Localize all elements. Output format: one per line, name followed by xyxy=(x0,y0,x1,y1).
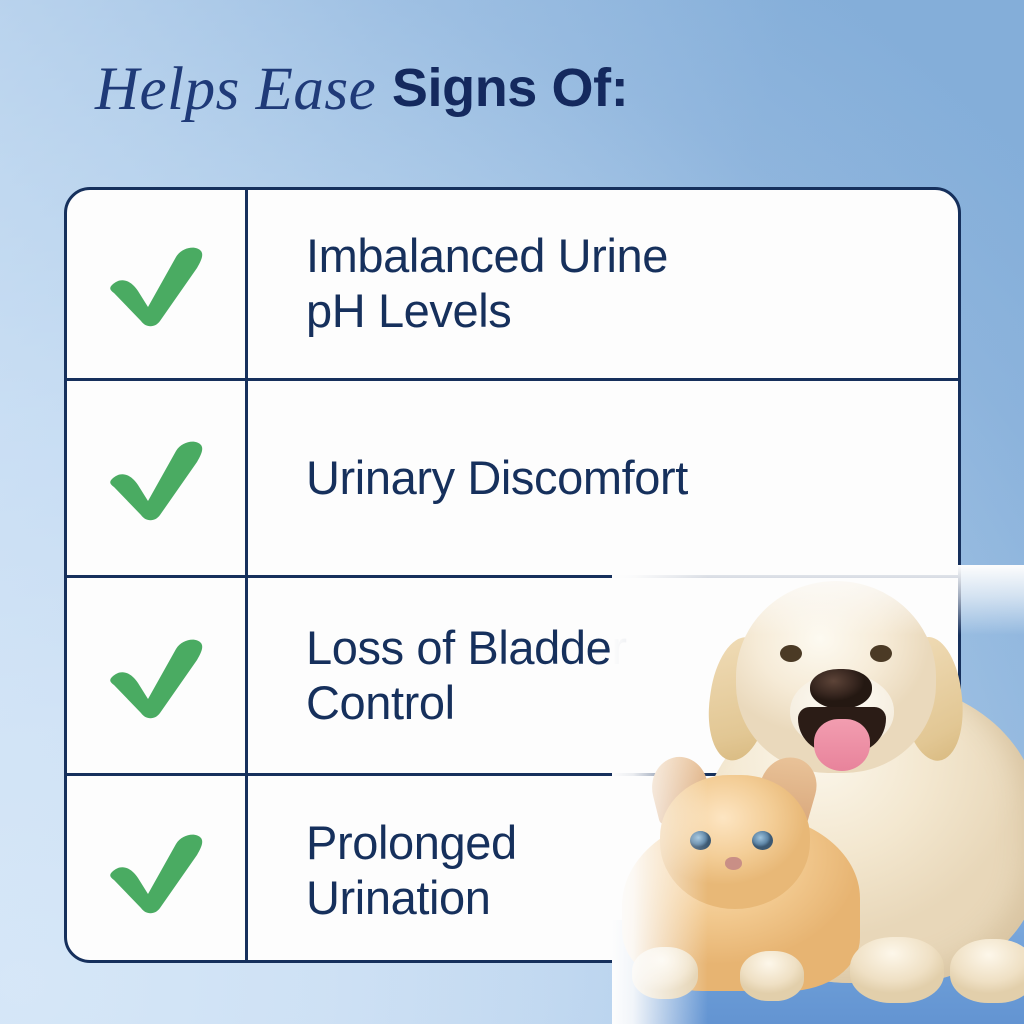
check-cell xyxy=(67,828,245,914)
label-cell: Loss of Bladder Control xyxy=(245,621,958,731)
checklist-label: Loss of Bladder Control xyxy=(306,621,948,731)
checklist-label: Urinary Discomfort xyxy=(306,451,948,506)
checklist-label: Imbalanced Urine pH Levels xyxy=(306,229,948,339)
label-cell: Imbalanced Urine pH Levels xyxy=(245,229,958,339)
checklist-row: Loss of Bladder Control xyxy=(67,578,958,773)
checklist-row: Imbalanced Urine pH Levels xyxy=(67,190,958,378)
page-title-bold: Signs Of: xyxy=(392,58,628,118)
checkmark-icon xyxy=(104,828,208,914)
check-cell xyxy=(67,241,245,327)
check-cell xyxy=(67,633,245,719)
checkmark-icon xyxy=(104,435,208,521)
check-cell xyxy=(67,435,245,521)
label-cell: Prolonged Urination xyxy=(245,816,958,926)
page-title-italic: Helps Ease xyxy=(95,56,392,123)
checkmark-icon xyxy=(104,241,208,327)
label-cell: Urinary Discomfort xyxy=(245,451,958,506)
benefits-card: Imbalanced Urine pH Levels Urinary Disco… xyxy=(64,187,961,963)
checklist-row: Urinary Discomfort xyxy=(67,381,958,575)
page-title: Helps Ease Signs Of: xyxy=(95,59,628,120)
checklist-label: Prolonged Urination xyxy=(306,816,948,926)
checkmark-icon xyxy=(104,633,208,719)
checklist-row: Prolonged Urination xyxy=(67,776,958,963)
